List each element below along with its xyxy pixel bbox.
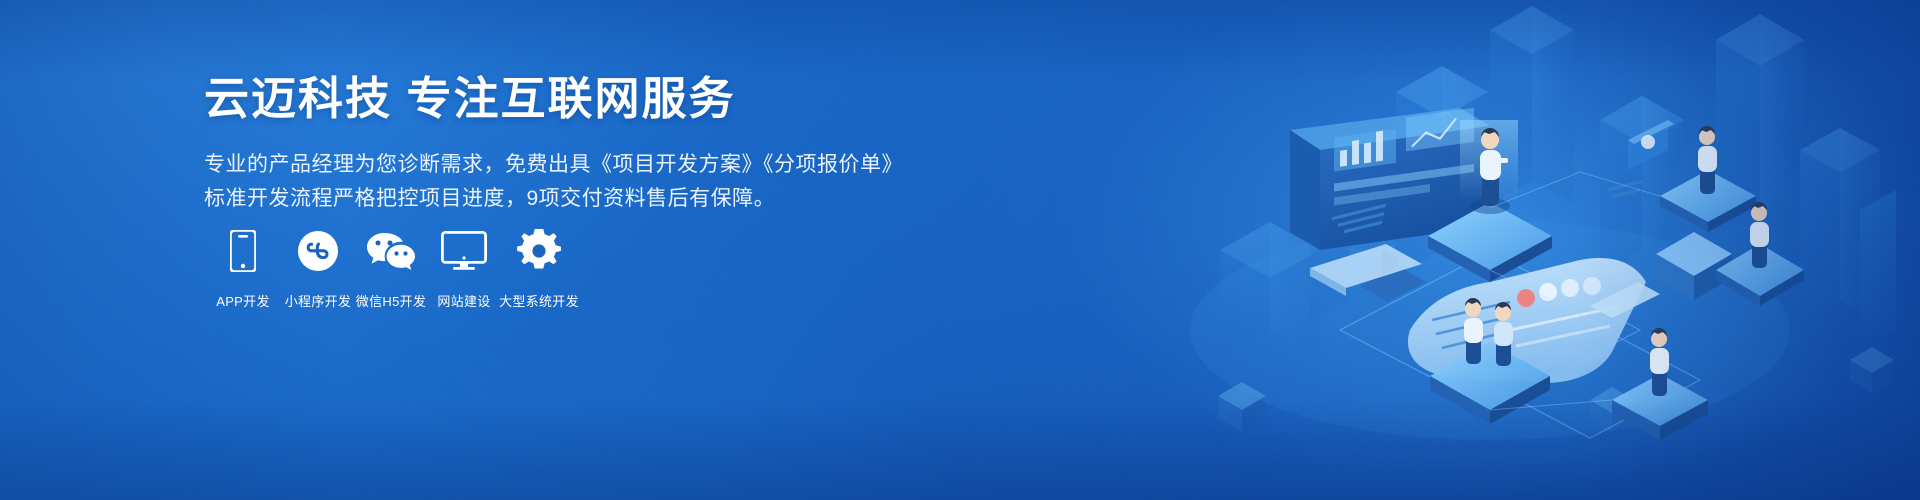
- page-title: 云迈科技 专注互联网服务: [204, 72, 904, 126]
- service-label: 微信H5开发: [356, 291, 426, 310]
- wechat-icon: [366, 228, 416, 274]
- service-label: 小程序开发: [285, 291, 352, 310]
- service-item-app[interactable]: APP开发: [204, 228, 282, 310]
- service-item-wechat-h5[interactable]: 微信H5开发: [354, 228, 428, 310]
- hero-banner: 云迈科技 专注互联网服务 专业的产品经理为您诊断需求，免费出具《项目开发方案》《…: [0, 0, 1920, 500]
- service-label: 大型系统开发: [499, 291, 579, 310]
- gear-icon: [517, 228, 561, 274]
- monitor-icon: [441, 228, 487, 274]
- service-item-large-system[interactable]: 大型系统开发: [500, 228, 578, 310]
- hero-copy: 云迈科技 专注互联网服务 专业的产品经理为您诊断需求，免费出具《项目开发方案》《…: [204, 72, 904, 216]
- service-item-website[interactable]: 网站建设: [428, 228, 500, 310]
- mobile-phone-icon: [230, 228, 256, 274]
- subtitle-line-1: 专业的产品经理为您诊断需求，免费出具《项目开发方案》《分项报价单》: [204, 148, 904, 182]
- service-list: APP开发 小程序开发 微信: [204, 228, 578, 310]
- service-label: 网站建设: [437, 291, 490, 310]
- illustration-artwork: [1160, 0, 1920, 500]
- subtitle-line-2: 标准开发流程严格把控项目进度，9项交付资料售后有保障。: [204, 182, 904, 216]
- mini-program-icon: [297, 228, 339, 274]
- service-item-miniprogram[interactable]: 小程序开发: [282, 228, 354, 310]
- service-label: APP开发: [216, 291, 270, 310]
